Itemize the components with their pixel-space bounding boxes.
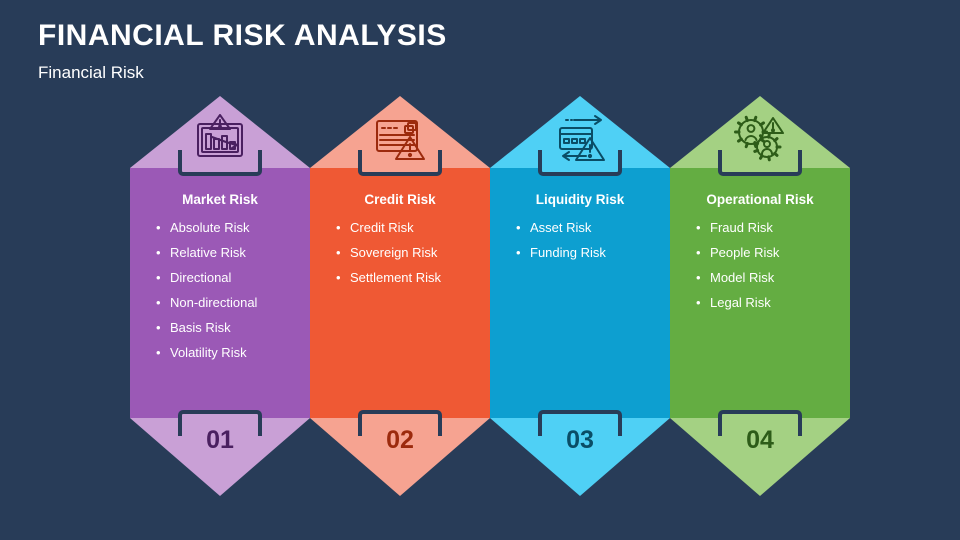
- column-title: Operational Risk: [670, 192, 850, 207]
- list-item: Fraud Risk: [696, 218, 846, 237]
- risk-columns: Market RiskAbsolute RiskRelative RiskDir…: [130, 96, 850, 496]
- card-transfer-warning-icon: [549, 112, 611, 164]
- step-number: 01: [130, 426, 310, 455]
- list-item: Funding Risk: [516, 243, 666, 262]
- risk-bullet-list: Credit RiskSovereign RiskSettlement Risk: [336, 218, 486, 293]
- column-title: Credit Risk: [310, 192, 490, 207]
- list-item: Asset Risk: [516, 218, 666, 237]
- step-number: 04: [670, 426, 850, 455]
- list-item: Relative Risk: [156, 243, 306, 262]
- column-title: Market Risk: [130, 192, 310, 207]
- list-item: Basis Risk: [156, 318, 306, 337]
- step-number: 02: [310, 426, 490, 455]
- credit-card-warning-icon: [369, 112, 431, 164]
- page-title: FINANCIAL RISK ANALYSIS: [38, 18, 447, 54]
- risk-column-04[interactable]: Operational RiskFraud RiskPeople RiskMod…: [670, 96, 850, 496]
- list-item: Non-directional: [156, 293, 306, 312]
- list-item: People Risk: [696, 243, 846, 262]
- risk-column-01[interactable]: Market RiskAbsolute RiskRelative RiskDir…: [130, 96, 310, 496]
- list-item: Volatility Risk: [156, 343, 306, 362]
- column-title: Liquidity Risk: [490, 192, 670, 207]
- gears-people-warning-icon: [729, 112, 791, 164]
- list-item: Sovereign Risk: [336, 243, 486, 262]
- list-item: Absolute Risk: [156, 218, 306, 237]
- bar-chart-warning-icon: [189, 112, 251, 164]
- list-item: Model Risk: [696, 268, 846, 287]
- list-item: Directional: [156, 268, 306, 287]
- step-number: 03: [490, 426, 670, 455]
- risk-bullet-list: Fraud RiskPeople RiskModel RiskLegal Ris…: [696, 218, 846, 318]
- list-item: Settlement Risk: [336, 268, 486, 287]
- risk-column-03[interactable]: Liquidity RiskAsset RiskFunding Risk03: [490, 96, 670, 496]
- list-item: Legal Risk: [696, 293, 846, 312]
- slide-header: FINANCIAL RISK ANALYSIS Financial Risk: [38, 18, 447, 84]
- page-subtitle: Financial Risk: [38, 62, 447, 84]
- risk-bullet-list: Asset RiskFunding Risk: [516, 218, 666, 268]
- list-item: Credit Risk: [336, 218, 486, 237]
- risk-column-02[interactable]: Credit RiskCredit RiskSovereign RiskSett…: [310, 96, 490, 496]
- risk-bullet-list: Absolute RiskRelative RiskDirectionalNon…: [156, 218, 306, 368]
